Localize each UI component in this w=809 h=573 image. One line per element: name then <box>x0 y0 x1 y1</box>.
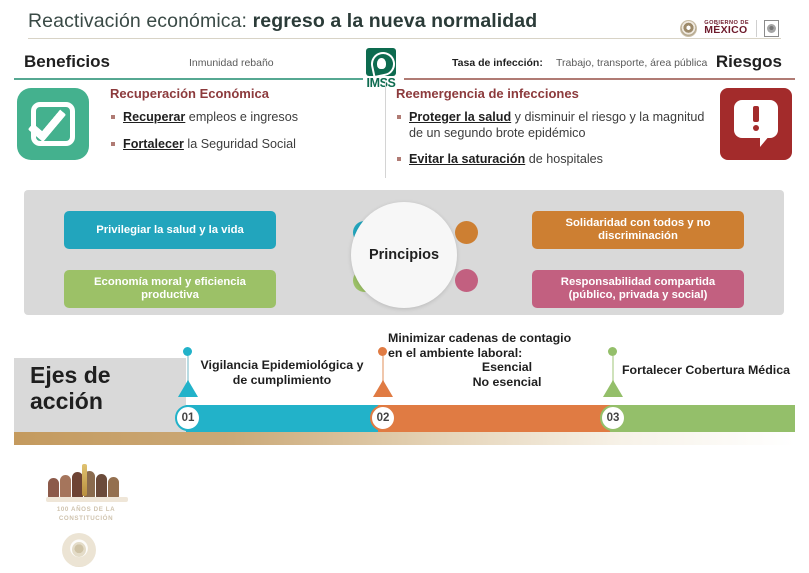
timeline-caption-01: Vigilancia Epidemiológica y de cumplimie… <box>192 358 372 387</box>
infection-rate-label: Tasa de infección: <box>452 57 543 69</box>
page-title-bold: regreso a la nueva normalidad <box>253 10 538 32</box>
slide-root: Reactivación económica: regreso a la nue… <box>0 0 809 573</box>
risks-divider-rule <box>404 78 795 80</box>
benefits-section-label: Beneficios <box>24 52 110 72</box>
footer-logo-caption: 100 AÑOS DE LA CONSTITUCIÓN <box>36 505 136 524</box>
timeline-segment-02 <box>378 405 610 432</box>
header: Reactivación económica: regreso a la nue… <box>0 10 809 40</box>
principios-center-circle: Principios <box>351 202 457 308</box>
principio-box-solidaridad[interactable]: Solidaridad con todos y no discriminació… <box>532 211 744 249</box>
risks-content: Reemergencia de infecciones Proteger la … <box>396 86 711 179</box>
page-title: Reactivación económica: regreso a la nue… <box>28 10 537 33</box>
footer-logo-caption-line1: 100 AÑOS DE LA <box>36 505 136 514</box>
list-item: Evitar la saturación de hospitales <box>396 152 711 168</box>
list-item: Fortalecer la Seguridad Social <box>110 137 375 153</box>
timeline-caption-03: Fortalecer Cobertura Médica <box>616 363 796 378</box>
timeline-segment-03 <box>610 405 795 432</box>
risks-bullet-list: Proteger la salud y disminuir el riesgo … <box>396 110 711 168</box>
timeline-dot-01 <box>183 347 192 356</box>
timeline-caption-02-main: Minimizar cadenas de contagio en el ambi… <box>388 331 584 360</box>
principio-box-privilegiar-salud[interactable]: Privilegiar la salud y la vida <box>64 211 276 249</box>
timeline-step-01[interactable]: 01 <box>175 405 201 431</box>
logo-divider <box>756 20 757 37</box>
footer-government-seal-icon <box>62 533 96 567</box>
secondary-seal-icon <box>764 20 779 37</box>
timeline-step-03[interactable]: 03 <box>600 405 626 431</box>
ejes-label-line1: Ejes de <box>30 363 180 389</box>
benefits-note: Inmunidad rebaño <box>189 57 274 69</box>
column-divider <box>385 82 386 178</box>
bullet-strong: Proteger la salud <box>409 110 511 124</box>
historic-figures-icon <box>42 468 130 502</box>
bullet-strong: Evitar la saturación <box>409 152 525 166</box>
benefits-divider-rule <box>14 78 363 80</box>
title-divider <box>28 38 781 39</box>
benefits-heading: Recuperación Económica <box>110 86 375 101</box>
eagle-seal-icon <box>680 20 697 37</box>
principio-node-top-right <box>455 221 478 244</box>
benefits-bullet-list: Recuperar empleos e ingresos Fortalecer … <box>110 110 375 152</box>
gold-accent-bar <box>14 432 795 445</box>
ejes-label-line2: acción <box>30 389 180 415</box>
timeline-caption-02-sub-a: Esencial <box>388 360 584 375</box>
principios-panel: Privilegiar la salud y la vida Economía … <box>24 190 784 315</box>
bullet-rest: de hospitales <box>525 152 603 166</box>
bullet-strong: Recuperar <box>123 110 185 124</box>
list-item: Recuperar empleos e ingresos <box>110 110 375 126</box>
timeline-step-02[interactable]: 02 <box>370 405 396 431</box>
footer-logo-caption-line2: CONSTITUCIÓN <box>36 514 136 523</box>
constitucion-centenario-logo: 100 AÑOS DE LA CONSTITUCIÓN <box>36 468 136 530</box>
list-item: Proteger la salud y disminuir el riesgo … <box>396 110 711 141</box>
bullet-rest: empleos e ingresos <box>185 110 298 124</box>
imss-eagle-icon <box>366 48 396 76</box>
gobierno-de-mexico-logo: GOBIERNO DE MÉXICO <box>680 20 779 37</box>
principio-box-economia-moral[interactable]: Economía moral y eficiencia productiva <box>64 270 276 308</box>
principio-box-responsabilidad[interactable]: Responsabilidad compartida (público, pri… <box>532 270 744 308</box>
principio-node-bottom-right <box>455 269 478 292</box>
timeline-dot-02 <box>378 347 387 356</box>
timeline-caption-02: Minimizar cadenas de contagio en el ambi… <box>388 331 584 390</box>
risks-section-label: Riesgos <box>716 52 782 72</box>
principios-center-label: Principios <box>369 247 439 263</box>
check-square-icon <box>17 88 89 160</box>
infection-rate-value: Trabajo, transporte, área pública <box>556 57 707 69</box>
benefits-content: Recuperación Económica Recuperar empleos… <box>110 86 375 163</box>
timeline-pointer-03 <box>603 380 623 397</box>
bullet-strong: Fortalecer <box>123 137 184 151</box>
gob-logo-line2: MÉXICO <box>704 26 749 36</box>
timeline-dot-03 <box>608 347 617 356</box>
ejes-de-accion-label: Ejes de acción <box>30 363 180 415</box>
timeline-segment-01 <box>186 405 378 432</box>
bullet-rest: la Seguridad Social <box>184 137 296 151</box>
page-title-plain: Reactivación económica: <box>28 10 253 32</box>
alert-exclamation-icon <box>720 88 792 160</box>
risks-heading: Reemergencia de infecciones <box>396 86 711 101</box>
timeline-caption-02-sub-b: No esencial <box>388 375 584 390</box>
gob-logo-text: GOBIERNO DE MÉXICO <box>704 21 749 36</box>
